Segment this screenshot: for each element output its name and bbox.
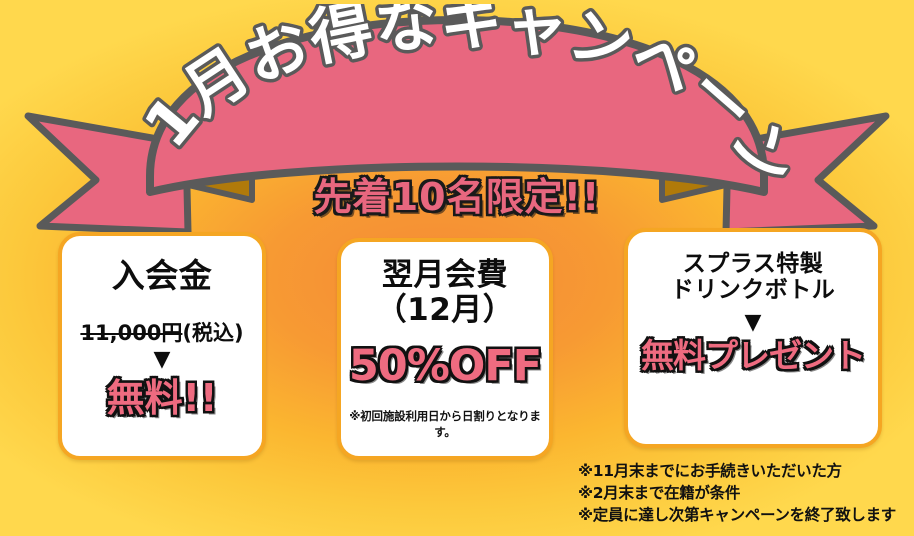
card-admission-fee-highlight: 無料!! bbox=[107, 379, 218, 417]
campaign-banner: 11月お得なキャンペーン 先着10名限定!! 入会金 11,000円(税込) ▼… bbox=[0, 0, 914, 536]
card-drink-bottle-gift-title-line1: スプラス特製 bbox=[671, 252, 836, 278]
card-next-month-fee-title-line2: （12月） bbox=[376, 293, 515, 328]
card-admission-fee-old-price: 11,000円(税込) bbox=[80, 317, 243, 347]
card-drink-bottle-gift-title-line2: ドリンクボトル bbox=[671, 278, 836, 304]
card-next-month-fee-title: 翌月会費 （12月） bbox=[376, 258, 515, 327]
card-next-month-fee-highlight: 50%OFF bbox=[349, 345, 541, 388]
down-arrow-icon: ▼ bbox=[745, 314, 762, 332]
card-drink-bottle-gift: スプラス特製 ドリンクボトル ▼ 無料プレゼント bbox=[624, 228, 882, 448]
card-drink-bottle-gift-title: スプラス特製 ドリンクボトル bbox=[671, 252, 836, 304]
card-admission-fee: 入会金 11,000円(税込) ▼ 無料!! bbox=[58, 232, 266, 460]
down-arrow-icon: ▼ bbox=[154, 351, 171, 369]
old-price-tax-suffix: (税込) bbox=[182, 321, 243, 345]
card-admission-fee-title: 入会金 bbox=[112, 258, 213, 295]
condition-note: ※2月末まで在籍が条件 bbox=[578, 482, 914, 504]
page-title: 11月お得なキャンペーン bbox=[0, 4, 810, 198]
card-next-month-fee-note: ※初回施設利用日から日割りとなります。 bbox=[341, 408, 549, 440]
condition-note: ※11月末までにお手続きいただいた方 bbox=[578, 460, 914, 482]
old-price-value: 11,000円 bbox=[80, 321, 182, 345]
card-next-month-fee-title-line1: 翌月会費 bbox=[376, 258, 515, 293]
campaign-conditions: ※11月末までにお手続きいただいた方 ※2月末まで在籍が条件 ※定員に達し次第キ… bbox=[578, 460, 914, 526]
card-next-month-fee: 翌月会費 （12月） 50%OFF ※初回施設利用日から日割りとなります。 bbox=[337, 238, 553, 460]
limited-offer-text: 先着10名限定!! bbox=[0, 178, 914, 216]
card-drink-bottle-gift-highlight: 無料プレゼント bbox=[641, 339, 865, 372]
condition-note: ※定員に達し次第キャンペーンを終了致します bbox=[578, 504, 914, 526]
